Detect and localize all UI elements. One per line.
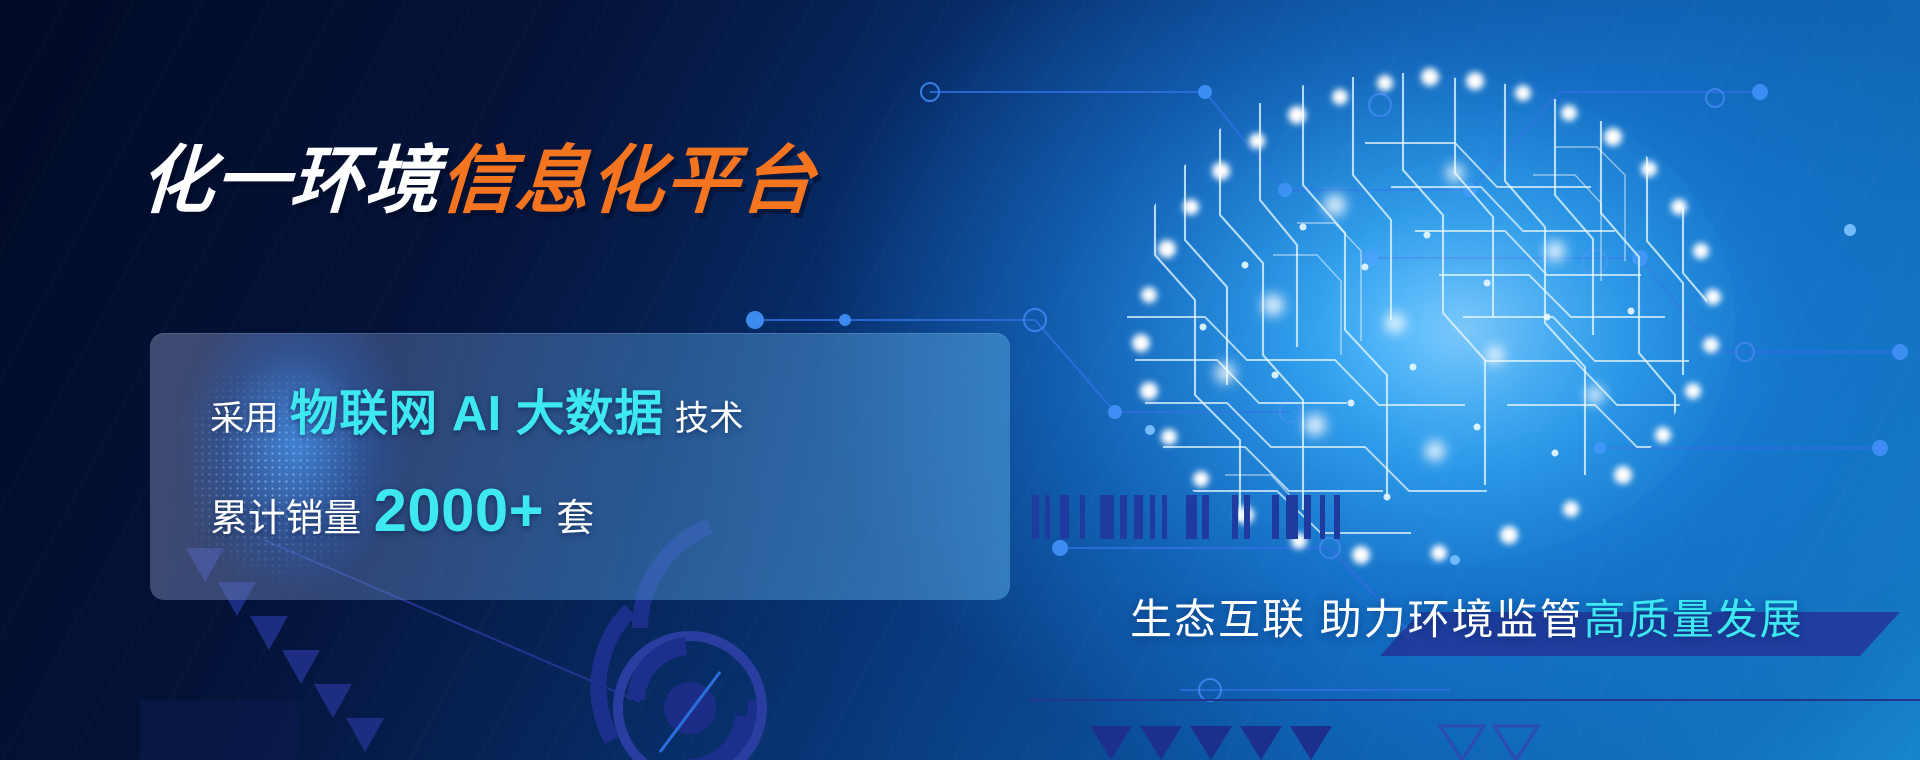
promotional-banner: 化一环境信息化平台 采用 物联网 AI 大数据 技术 累计销量 2000+ 套 … <box>0 0 1920 760</box>
line1-highlight: 物联网 AI 大数据 <box>290 387 664 441</box>
feature-line-sales: 累计销量 2000+ 套 <box>210 481 594 541</box>
headline-primary: 化一环境 <box>138 139 442 222</box>
feature-line-technology: 采用 物联网 AI 大数据 技术 <box>210 390 744 439</box>
tagline-accent: 高质量发展 <box>1584 596 1804 643</box>
circuit-brain-graphic <box>1035 55 1795 575</box>
headline-accent: 信息化平台 <box>438 139 817 222</box>
page-title: 化一环境信息化平台 <box>138 144 817 218</box>
tagline-primary: 生态互联 助力环境监管 <box>1130 596 1584 643</box>
line2-suffix: 套 <box>556 498 594 540</box>
line1-prefix: 采用 <box>210 400 279 438</box>
line1-suffix: 技术 <box>675 400 744 438</box>
line2-highlight: 2000+ <box>374 477 545 544</box>
feature-card: 采用 物联网 AI 大数据 技术 累计销量 2000+ 套 <box>150 333 1010 600</box>
tagline: 生态互联 助力环境监管高质量发展 <box>1130 586 1804 647</box>
line2-prefix: 累计销量 <box>210 498 361 540</box>
